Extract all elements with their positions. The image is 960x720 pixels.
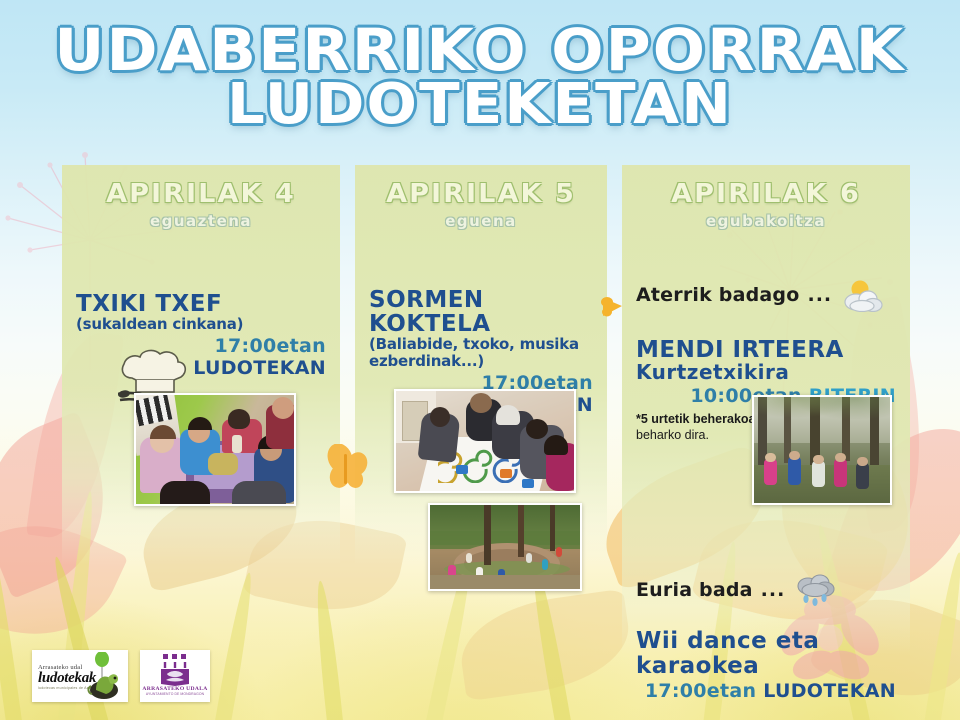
column-date-heading: APIRILAK 6	[631, 179, 901, 209]
grass-blade	[0, 521, 26, 720]
children-cooking-workshop-photo	[134, 393, 296, 506]
activity-time-place: 17:00etan LUDOTEKAN	[76, 335, 326, 379]
column-weekday-label: egubakoitza	[636, 212, 896, 230]
title-line-1: UDABERRIKO OPORRAK	[0, 22, 960, 78]
amber-leaf-decoration	[455, 589, 636, 702]
weather-condition-rain: Euria bada ...	[636, 573, 896, 607]
condition-ellipsis: ...	[807, 284, 832, 306]
poster-title: UDABERRIKO OPORRAK LUDOTEKETAN	[0, 22, 960, 133]
activity-title: TXIKI TXEF	[76, 292, 326, 316]
condition-ellipsis: ...	[761, 579, 786, 601]
activity-title-line-2: karaokea	[636, 654, 896, 678]
poster-canvas: UDABERRIKO OPORRAK LUDOTEKETAN APIRILAK …	[0, 0, 960, 720]
sun-behind-cloud-icon	[840, 278, 886, 312]
grass-blade	[920, 551, 960, 720]
activity-time: 17:00etan	[215, 335, 327, 357]
ludotekak-logo: Arrasateko udal ludotekak ludotecas muni…	[32, 650, 128, 702]
column-weekday-label: eguaztena	[76, 212, 326, 230]
activity-title: MENDI IRTEERA	[636, 338, 896, 362]
column-weekday-label: eguena	[369, 212, 593, 230]
activity-subtitle-line-2: ezberdinak...)	[369, 353, 593, 370]
activity-title: SORMEN KOKTELA	[369, 288, 593, 336]
weather-condition-dry: Aterrik badago ...	[636, 278, 896, 312]
activity-time-place: 17:00etan LUDOTEKAN	[636, 680, 896, 702]
activity-place: LUDOTEKAN	[763, 680, 896, 702]
grass-blade	[312, 580, 346, 720]
activity-title-line-1: Wii dance eta	[636, 629, 896, 653]
condition-label: Euria bada	[636, 579, 753, 601]
activity-time: 17:00etan	[645, 680, 757, 702]
grass-blade	[210, 571, 257, 720]
children-hiking-forest-photo	[752, 395, 892, 505]
note-bold-part: *5 urtetik beherakoak	[636, 412, 762, 426]
activity-place: LUDOTEKAN	[193, 357, 326, 379]
activity-subtitle: (sukaldean cinkana)	[76, 316, 326, 333]
children-painting-spirals-photo	[394, 389, 576, 493]
activity-subtitle-line-1: (Baliabide, txoko, musika	[369, 336, 593, 353]
coat-of-arms-icon	[155, 654, 195, 686]
rain-cloud-icon	[793, 573, 839, 607]
activity-subtitle: Kurtzetxikira	[636, 362, 896, 383]
condition-label: Aterrik badago	[636, 284, 799, 306]
udala-logo-subtitle: AYUNTAMIENTO DE MONDRAGON	[140, 692, 210, 696]
arrasateko-udala-logo: ARRASATEKO UDALA AYUNTAMIENTO DE MONDRAG…	[140, 650, 210, 702]
column-date-heading: APIRILAK 4	[71, 179, 331, 209]
dragon-balloon-icon	[82, 652, 126, 700]
title-line-2: LUDOTEKETAN	[0, 78, 960, 132]
children-outdoor-park-photo	[428, 503, 582, 591]
logo-bar: Arrasateko udal ludotekak ludotecas muni…	[32, 650, 210, 702]
column-date-heading: APIRILAK 5	[365, 179, 598, 209]
